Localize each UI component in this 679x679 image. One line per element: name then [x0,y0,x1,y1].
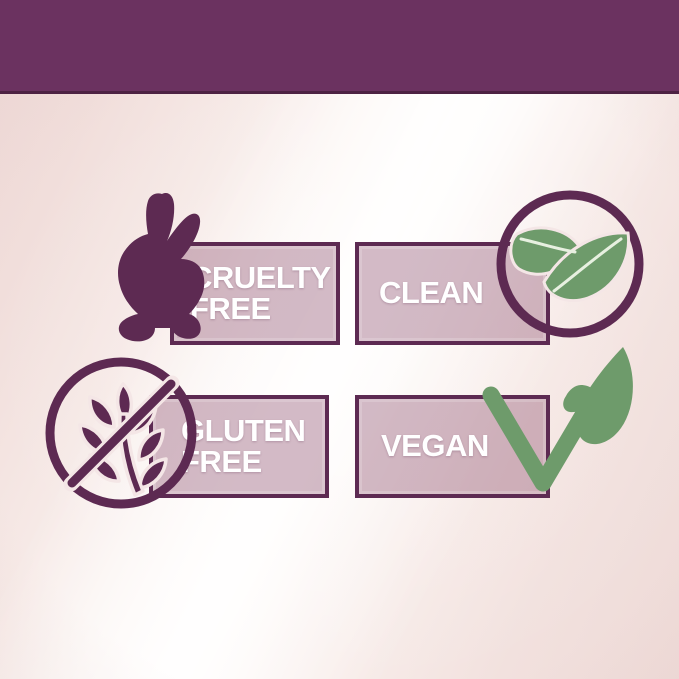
formula-claims-poster: THIS FORMULA IS CRUELTY FREE CLEAN [0,0,679,679]
bunny-icon [105,189,217,349]
badge-label-clean: CLEAN [379,278,483,308]
no-wheat-icon [44,356,199,511]
header-underline [0,91,679,94]
badge-label-gluten-free: GLUTEN FREE [181,416,305,477]
badge-vegan: VEGAN [355,353,655,528]
badge-gluten-free: GLUTEN FREE [44,356,334,521]
badge-clean: CLEAN [355,189,645,349]
header-banner [0,0,679,91]
badge-cruelty-free: CRUELTY FREE [105,189,355,349]
badge-grid: CRUELTY FREE CLEAN [0,91,679,679]
leaves-in-circle-icon [495,189,645,339]
leaf-checkmark-icon [473,335,655,517]
